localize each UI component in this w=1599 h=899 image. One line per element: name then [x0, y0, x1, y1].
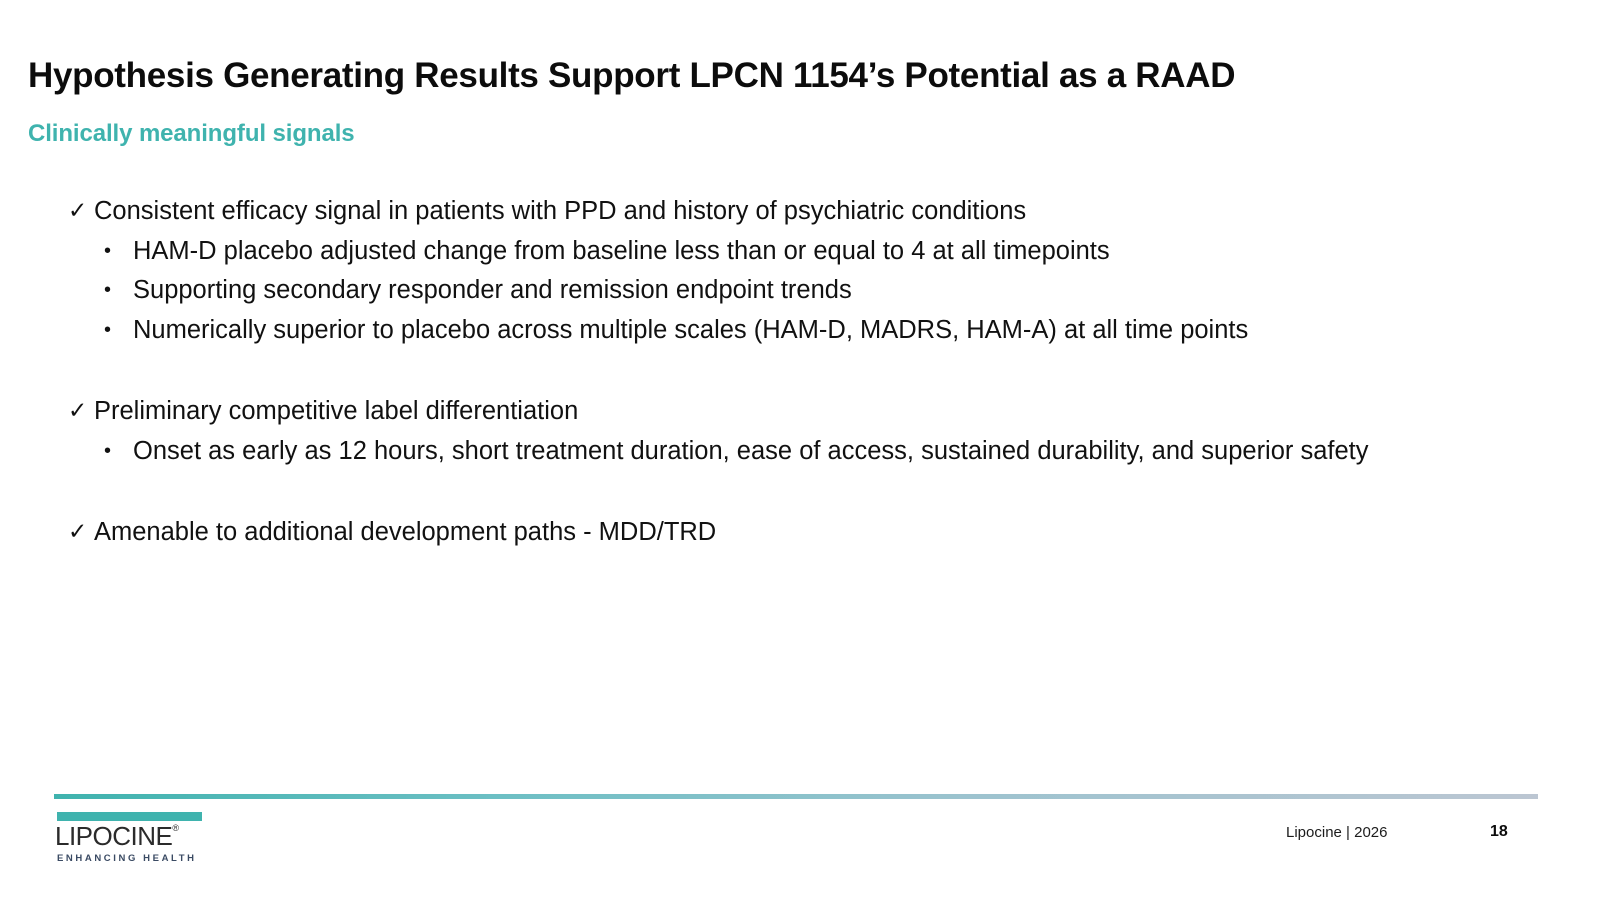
check-icon: ✓	[68, 194, 94, 227]
logo-word-text: LIPOCINE	[55, 823, 172, 849]
logo-tagline: ENHANCING HEALTH	[57, 853, 235, 864]
logo-wordmark: LIPOCINE ®	[55, 823, 235, 849]
bullet-dot-icon: •	[104, 273, 133, 307]
footer-divider	[54, 794, 1538, 799]
list-item: • Onset as early as 12 hours, short trea…	[68, 434, 1538, 469]
check-icon: ✓	[68, 394, 94, 427]
content-group: ✓ Preliminary competitive label differen…	[68, 394, 1538, 469]
page-subtitle: Clinically meaningful signals	[28, 120, 355, 148]
checklist-item: ✓ Amenable to additional development pat…	[68, 515, 1538, 549]
slide-canvas: Hypothesis Generating Results Support LP…	[0, 0, 1599, 899]
check-icon: ✓	[68, 515, 94, 548]
bullet-dot-icon: •	[104, 434, 133, 468]
checklist-item: ✓ Consistent efficacy signal in patients…	[68, 194, 1538, 228]
list-item: • Numerically superior to placebo across…	[68, 313, 1538, 348]
content-group: ✓ Consistent efficacy signal in patients…	[68, 194, 1538, 348]
list-item-label: Supporting secondary responder and remis…	[133, 273, 1493, 308]
page-number: 18	[1490, 823, 1508, 841]
footer-credit: Lipocine | 2026	[1286, 824, 1387, 841]
list-item-label: HAM-D placebo adjusted change from basel…	[133, 234, 1493, 269]
list-item-label: Numerically superior to placebo across m…	[133, 313, 1493, 348]
checklist-item-label: Amenable to additional development paths…	[94, 515, 1538, 549]
checklist-item-label: Consistent efficacy signal in patients w…	[94, 194, 1538, 228]
logo-accent-bar	[57, 812, 202, 821]
checklist-item-label: Preliminary competitive label differenti…	[94, 394, 1538, 428]
list-item-label: Onset as early as 12 hours, short treatm…	[133, 434, 1493, 469]
slide-body: ✓ Consistent efficacy signal in patients…	[68, 194, 1538, 549]
list-item: • HAM-D placebo adjusted change from bas…	[68, 234, 1538, 269]
content-group: ✓ Amenable to additional development pat…	[68, 515, 1538, 549]
sub-bullet-list: • Onset as early as 12 hours, short trea…	[68, 434, 1538, 469]
page-title: Hypothesis Generating Results Support LP…	[28, 56, 1235, 96]
bullet-dot-icon: •	[104, 234, 133, 268]
bullet-dot-icon: •	[104, 313, 133, 347]
brand-logo: LIPOCINE ® ENHANCING HEALTH	[55, 812, 235, 864]
checklist-item: ✓ Preliminary competitive label differen…	[68, 394, 1538, 428]
registered-trademark-icon: ®	[172, 824, 179, 833]
sub-bullet-list: • HAM-D placebo adjusted change from bas…	[68, 234, 1538, 348]
list-item: • Supporting secondary responder and rem…	[68, 273, 1538, 308]
